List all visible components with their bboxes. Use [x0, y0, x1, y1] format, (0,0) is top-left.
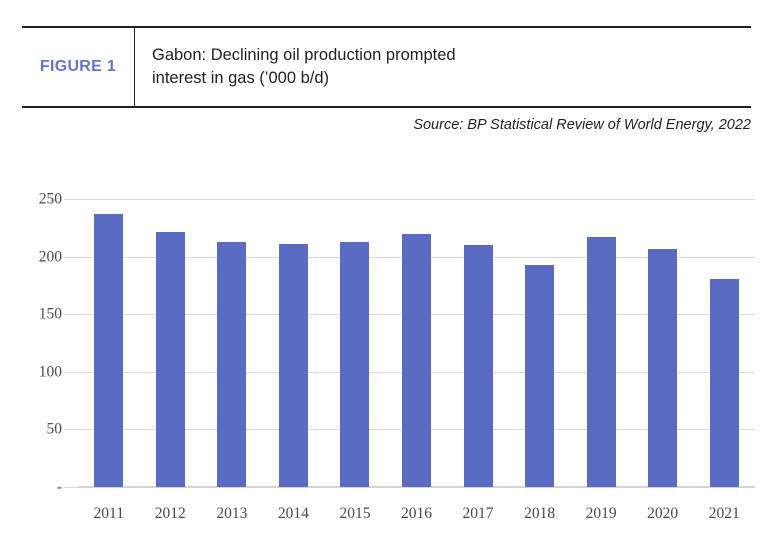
y-tick-label-200: 200	[16, 249, 62, 265]
bar-2017	[464, 245, 493, 487]
y-tick-mark-250	[64, 199, 78, 200]
figure-label-cell: FIGURE 1	[22, 28, 135, 106]
bar-2015	[340, 242, 369, 487]
figure-label: FIGURE 1	[40, 58, 116, 76]
y-tick-label-50: 50	[16, 422, 62, 438]
gridline-250	[78, 199, 755, 200]
x-tick-label-2013: 2013	[201, 506, 263, 522]
y-tick-mark-200	[64, 257, 78, 258]
x-tick-label-2017: 2017	[447, 506, 509, 522]
y-tick-label-250: 250	[16, 191, 62, 207]
bar-2012	[156, 232, 185, 487]
x-tick-label-2020: 2020	[632, 506, 694, 522]
y-tick-mark-0	[64, 487, 78, 488]
figure-title-cell: Gabon: Declining oil production prompted…	[135, 28, 751, 106]
x-tick-label-2018: 2018	[509, 506, 571, 522]
y-tick-mark-150	[64, 314, 78, 315]
x-tick-label-2016: 2016	[386, 506, 448, 522]
plot-area	[78, 199, 755, 487]
bar-2016	[402, 234, 431, 487]
figure-page: FIGURE 1 Gabon: Declining oil production…	[0, 0, 772, 543]
x-tick-label-2014: 2014	[263, 506, 325, 522]
bar-2020	[648, 249, 677, 487]
y-tick-label-100: 100	[16, 364, 62, 380]
x-tick-label-2015: 2015	[324, 506, 386, 522]
x-tick-label-2019: 2019	[570, 506, 632, 522]
y-tick-mark-50	[64, 429, 78, 430]
y-tick-label-0: -	[16, 479, 62, 495]
x-tick-label-2011: 2011	[78, 506, 140, 522]
y-tick-label-150: 150	[16, 306, 62, 322]
bar-2019	[587, 237, 616, 487]
bar-chart: -50100150200250 201120122013201420152016…	[0, 150, 772, 540]
bar-2011	[94, 214, 123, 487]
x-tick-label-2021: 2021	[693, 506, 755, 522]
bar-2013	[217, 242, 246, 487]
x-tick-label-2012: 2012	[140, 506, 202, 522]
source-attribution: Source: BP Statistical Review of World E…	[413, 117, 751, 133]
figure-title-line-2: interest in gas (’000 b/d)	[152, 67, 751, 90]
bar-2014	[279, 244, 308, 487]
figure-title-line-1: Gabon: Declining oil production prompted	[152, 44, 751, 67]
y-tick-mark-100	[64, 372, 78, 373]
figure-header: FIGURE 1 Gabon: Declining oil production…	[22, 26, 751, 108]
bar-2018	[525, 265, 554, 487]
y-axis: -50100150200250	[16, 199, 62, 487]
bar-2021	[710, 279, 739, 488]
